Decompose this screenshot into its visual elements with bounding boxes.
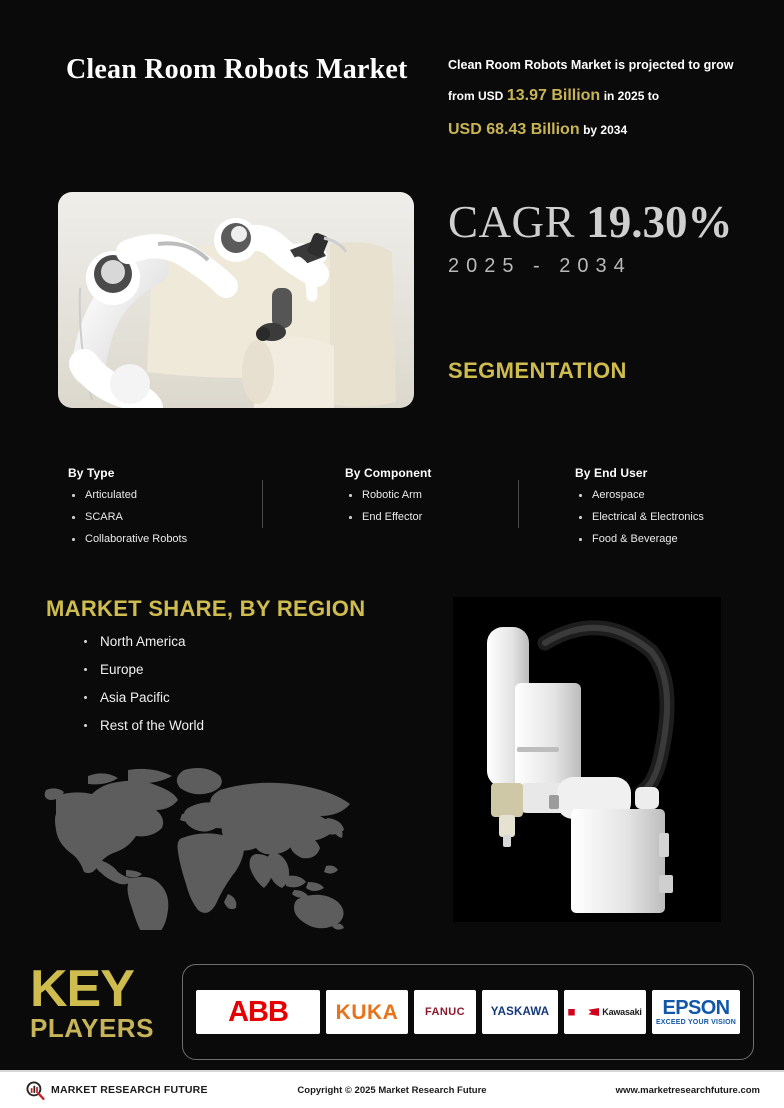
list-item: Food & Beverage bbox=[575, 533, 704, 546]
segmentation-column-title: By Component bbox=[345, 466, 432, 480]
segmentation-list: Robotic Arm End Effector bbox=[345, 489, 432, 524]
segmentation-list: Articulated SCARA Collaborative Robots bbox=[68, 489, 187, 547]
kawasaki-mark-icon bbox=[568, 1009, 585, 1016]
list-item: Asia Pacific bbox=[78, 690, 204, 705]
footer-website[interactable]: www.marketresearchfuture.com bbox=[616, 1085, 760, 1096]
segmentation-heading: SEGMENTATION bbox=[448, 358, 627, 384]
robotic-arms-illustration bbox=[58, 192, 414, 408]
logo-kawasaki-row: Kawasaki bbox=[568, 1007, 641, 1017]
segmentation-column-by-end-user: By End User Aerospace Electrical & Elect… bbox=[575, 466, 704, 556]
logo-yaskawa-text: YASKAWA bbox=[491, 1006, 550, 1018]
list-item: Robotic Arm bbox=[345, 489, 432, 502]
cagr-years: 2025 - 2034 bbox=[448, 255, 733, 278]
logo-fanuc: FANUC bbox=[414, 990, 476, 1034]
logo-fanuc-text: FANUC bbox=[425, 1006, 465, 1018]
list-item: Electrical & Electronics bbox=[575, 511, 704, 524]
logo-kuka-text: KUKA bbox=[336, 1002, 399, 1023]
list-item: End Effector bbox=[345, 511, 432, 524]
logo-kuka: KUKA bbox=[326, 990, 408, 1034]
list-item: SCARA bbox=[68, 511, 187, 524]
segmentation-divider bbox=[262, 480, 263, 528]
projection-from-value: 13.97 Billion bbox=[507, 87, 600, 104]
segmentation-divider bbox=[518, 480, 519, 528]
list-item: North America bbox=[78, 634, 204, 649]
logo-epson-tagline: EXCEED YOUR VISION bbox=[656, 1019, 736, 1026]
logo-kawasaki: Kawasaki bbox=[564, 990, 646, 1034]
market-share-heading: MARKET SHARE, BY REGION bbox=[46, 596, 365, 622]
projection-to-label: by 2034 bbox=[583, 123, 627, 137]
key-players-label-bottom: PLAYERS bbox=[30, 1014, 180, 1043]
segmentation-column-by-type: By Type Articulated SCARA Collaborative … bbox=[68, 466, 187, 556]
footer: MARKET RESEARCH FUTURE Copyright © 2025 … bbox=[0, 1072, 784, 1108]
logo-epson-text: EPSON bbox=[662, 998, 729, 1018]
projection-mid-label: in 2025 to bbox=[604, 89, 659, 103]
key-players-label-top: KEY bbox=[30, 965, 180, 1014]
list-item: Articulated bbox=[68, 489, 187, 502]
list-item: Aerospace bbox=[575, 489, 704, 502]
logo-kawasaki-text: Kawasaki bbox=[602, 1007, 641, 1017]
scara-robot-image bbox=[453, 597, 721, 922]
segmentation-column-title: By End User bbox=[575, 466, 704, 480]
market-share-region-list: North America Europe Asia Pacific Rest o… bbox=[78, 634, 204, 746]
world-map bbox=[42, 762, 364, 930]
list-item: Europe bbox=[78, 662, 204, 677]
key-players-label: KEY PLAYERS bbox=[30, 965, 180, 1043]
segmentation-column-title: By Type bbox=[68, 466, 187, 480]
list-item: Rest of the World bbox=[78, 718, 204, 733]
key-players-logo-row: ABB KUKA FANUC YASKAWA Kawasaki EPSON EX… bbox=[182, 964, 754, 1060]
segmentation-column-by-component: By Component Robotic Arm End Effector bbox=[345, 466, 432, 533]
infographic-page: Clean Room Robots Market Clean Room Robo… bbox=[0, 0, 784, 1108]
robotic-arms-image bbox=[58, 192, 414, 408]
logo-abb-text: ABB bbox=[228, 998, 288, 1027]
kawasaki-arrow-icon bbox=[588, 1008, 599, 1016]
projection-to-value: USD 68.43 Billion bbox=[448, 121, 580, 138]
logo-epson: EPSON EXCEED YOUR VISION bbox=[652, 990, 740, 1034]
cagr-block: CAGR 19.30% 2025 - 2034 bbox=[448, 200, 733, 278]
page-title: Clean Room Robots Market bbox=[66, 50, 426, 91]
logo-abb: ABB bbox=[196, 990, 320, 1034]
cagr-label: CAGR bbox=[448, 197, 575, 247]
market-projection-text: Clean Room Robots Market is projected to… bbox=[448, 52, 748, 148]
list-item: Collaborative Robots bbox=[68, 533, 187, 546]
projection-from-label: from USD bbox=[448, 89, 503, 103]
segmentation-list: Aerospace Electrical & Electronics Food … bbox=[575, 489, 704, 547]
cagr-value: 19.30% bbox=[586, 197, 732, 247]
logo-yaskawa: YASKAWA bbox=[482, 990, 558, 1034]
projection-line-1: Clean Room Robots Market is projected to… bbox=[448, 58, 733, 72]
scara-robot-illustration bbox=[453, 597, 721, 922]
cagr-line: CAGR 19.30% bbox=[448, 200, 733, 245]
world-map-illustration bbox=[42, 762, 364, 930]
